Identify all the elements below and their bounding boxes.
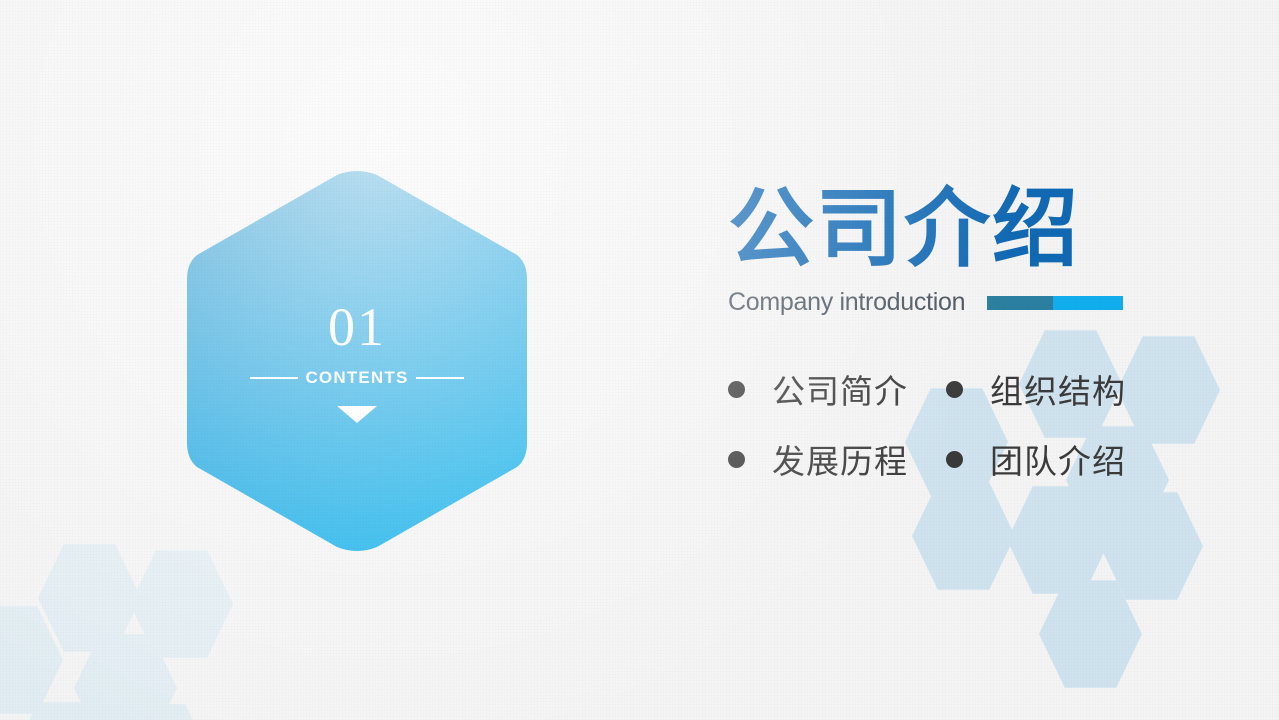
list-item[interactable]: 组织结构: [946, 365, 1164, 413]
bullet-dot-icon: [946, 381, 963, 398]
decorative-hexagon: [1007, 484, 1110, 596]
decorative-hexagon: [0, 604, 63, 716]
accent-bar: [987, 296, 1123, 310]
rule-right: [416, 377, 464, 379]
chevron-down-icon: [337, 406, 377, 423]
decorative-hexagon: [108, 702, 211, 720]
bullet-dot-icon: [728, 451, 745, 468]
contents-list: 公司简介 组织结构 发展历程 团队介绍: [728, 365, 1248, 483]
section-number-hexagon[interactable]: 01 CONTENTS: [187, 171, 527, 551]
accent-bar-light-segment: [1053, 296, 1123, 310]
list-item-label: 发展历程: [772, 435, 908, 483]
section-number: 01: [328, 300, 386, 354]
contents-label: CONTENTS: [305, 368, 408, 388]
page-title: 公司介绍: [728, 186, 1248, 272]
decorative-hexagon: [12, 700, 115, 720]
list-item-label: 组织结构: [990, 365, 1126, 413]
list-item-label: 团队介绍: [990, 435, 1126, 483]
page-subtitle: Company introduction: [728, 288, 965, 317]
hexagon-inner-content: 01 CONTENTS: [187, 171, 527, 551]
contents-label-row: CONTENTS: [250, 368, 463, 388]
list-item[interactable]: 公司简介: [728, 365, 946, 413]
list-item[interactable]: 发展历程: [728, 435, 946, 483]
list-item[interactable]: 团队介绍: [946, 435, 1164, 483]
decorative-hexagon: [74, 632, 177, 720]
decorative-hexagon: [38, 542, 141, 654]
bullet-dot-icon: [728, 381, 745, 398]
rule-left: [250, 377, 298, 379]
presentation-slide: 01 CONTENTS 公司介绍 Company introduction 公司…: [0, 0, 1279, 720]
heading-column: 公司介绍 Company introduction 公司简介 组织结构 发展历程: [728, 186, 1248, 483]
decorative-hexagon: [130, 548, 233, 660]
list-item-label: 公司简介: [772, 365, 908, 413]
subtitle-row: Company introduction: [728, 288, 1248, 317]
decorative-hexagon: [1039, 578, 1142, 690]
decorative-hexagon: [1100, 490, 1203, 602]
decorative-hexagon: [912, 480, 1015, 592]
accent-bar-dark-segment: [987, 296, 1053, 310]
bullet-dot-icon: [946, 451, 963, 468]
